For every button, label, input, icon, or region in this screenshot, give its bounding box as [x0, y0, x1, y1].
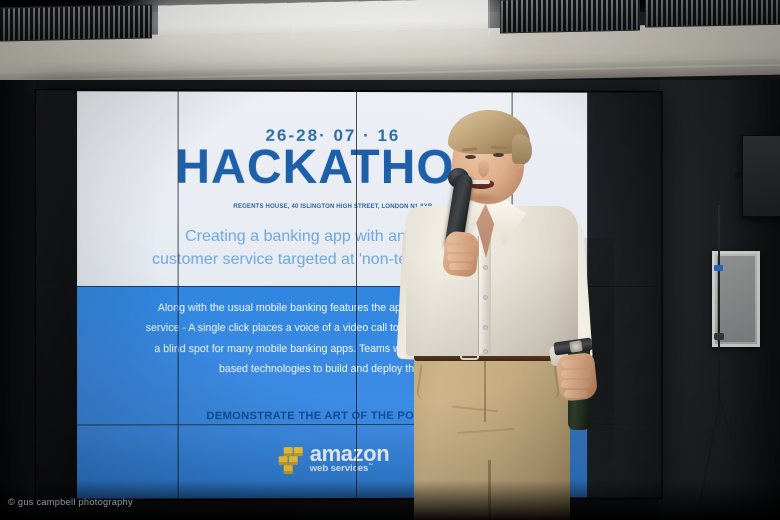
presenter [392, 108, 622, 520]
finger [448, 236, 474, 243]
finger [562, 360, 590, 368]
eye-right [493, 153, 504, 157]
tripod-clamp-icon [714, 333, 724, 340]
shirt-shading [406, 258, 578, 356]
finger [564, 390, 588, 398]
shirt-button [484, 296, 487, 299]
tripod-stand [718, 205, 720, 405]
left-wall-edge [0, 80, 36, 520]
air-vent-left-icon [0, 4, 152, 41]
shirt-button [484, 326, 487, 329]
photographer-watermark: © gus campbell photography [8, 497, 133, 507]
ceiling-monitor [742, 135, 780, 217]
vent-shading [646, 0, 780, 26]
ceiling-seam [488, 0, 490, 36]
eye-left [465, 155, 476, 159]
finger [447, 254, 474, 261]
ceiling-seam [292, 4, 294, 40]
shirt-placket [478, 236, 491, 354]
photograph-scene: 26-28· 07 · 16 HACKATHON REGENTS HOUSE, … [0, 0, 780, 520]
finger [561, 370, 591, 378]
air-vent-center-right-icon [500, 0, 640, 33]
vent-shading [501, 0, 639, 32]
vent-shading [0, 5, 151, 40]
finger [561, 380, 590, 388]
shirt-button [484, 350, 487, 353]
hair-side [512, 134, 532, 164]
air-vent-right-icon [645, 0, 780, 28]
wristwatch-face [569, 340, 582, 353]
ceiling [0, 0, 780, 86]
nose [478, 160, 489, 177]
trouser-fly [484, 360, 486, 422]
shirt-button [484, 266, 487, 269]
tripod-adjuster-icon [714, 265, 723, 271]
finger [449, 263, 472, 270]
teeth [471, 180, 490, 184]
finger [447, 245, 475, 252]
